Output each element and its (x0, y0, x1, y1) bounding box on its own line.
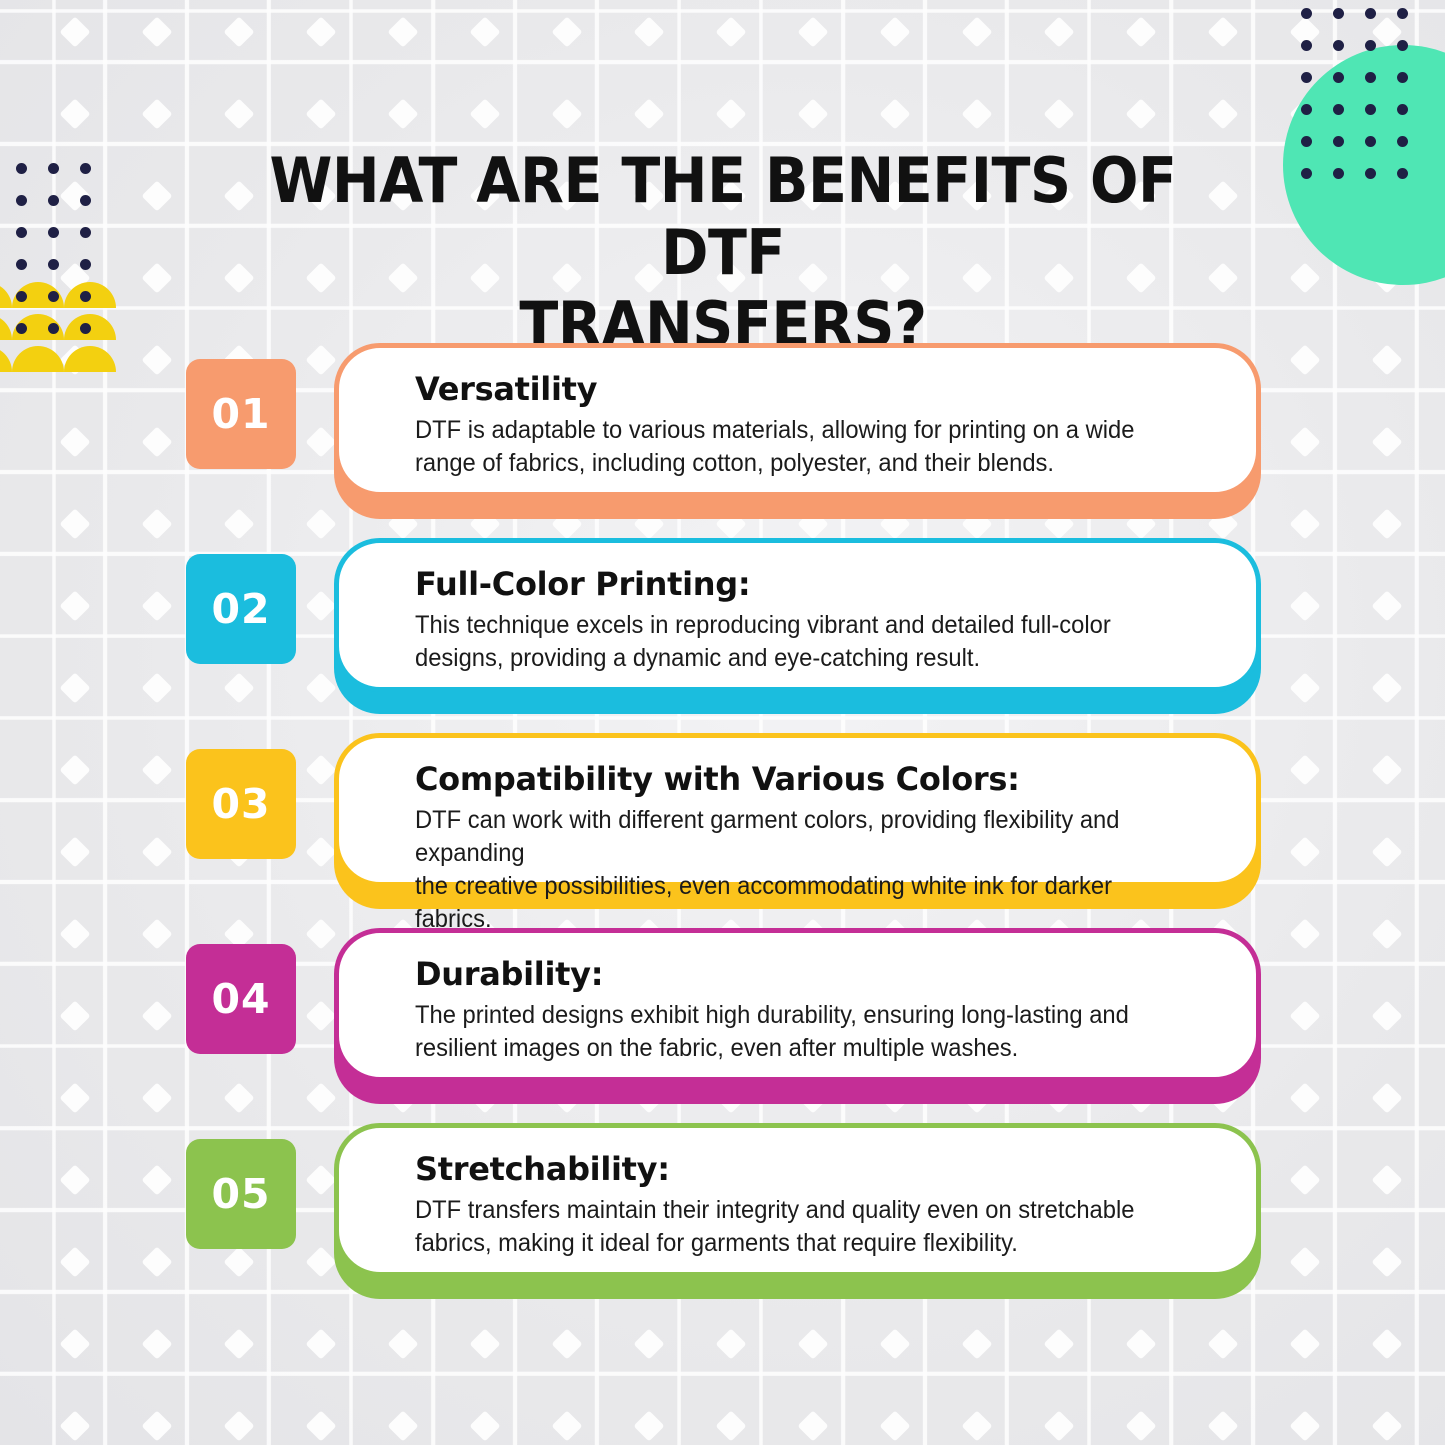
grid-diamond (797, 16, 828, 47)
grid-diamond (141, 1164, 172, 1195)
semicircle-shape (0, 314, 12, 340)
grid-diamond (387, 98, 418, 129)
decor-dot (1301, 72, 1312, 83)
infographic-canvas: WHAT ARE THE BENEFITS OF DTF TRANSFERS? … (0, 0, 1445, 1445)
benefit-row-03: 03Compatibility with Various Colors:DTF … (186, 733, 1261, 909)
grid-diamond (1289, 1410, 1320, 1441)
grid-diamond (469, 98, 500, 129)
grid-diamond (879, 1410, 910, 1441)
card-body-panel: Full-Color Printing:This technique excel… (334, 538, 1261, 692)
grid-diamond (551, 1328, 582, 1359)
grid-diamond (305, 98, 336, 129)
decor-dot (16, 195, 27, 206)
card-body-panel: VersatilityDTF is adaptable to various m… (334, 343, 1261, 497)
grid-diamond (141, 590, 172, 621)
grid-diamond (469, 16, 500, 47)
grid-diamond (223, 1328, 254, 1359)
grid-diamond (1289, 918, 1320, 949)
decor-dot (1301, 8, 1312, 19)
decor-dot (48, 259, 59, 270)
grid-diamond (305, 1328, 336, 1359)
grid-diamond (141, 344, 172, 375)
semicircle-row (0, 346, 116, 372)
grid-diamond (1289, 344, 1320, 375)
dot-row (16, 227, 112, 238)
grid-diamond (961, 98, 992, 129)
benefit-row-05: 05Stretchability:DTF transfers maintain … (186, 1123, 1261, 1299)
page-title-line-1: WHAT ARE THE BENEFITS OF DTF (269, 144, 1176, 289)
grid-diamond (1289, 1082, 1320, 1113)
grid-diamond (141, 508, 172, 539)
grid-diamond (879, 1328, 910, 1359)
grid-diamond (551, 98, 582, 129)
benefit-card[interactable]: Stretchability:DTF transfers maintain th… (334, 1123, 1261, 1299)
grid-diamond (59, 1246, 90, 1277)
decor-dot (80, 195, 91, 206)
benefit-card[interactable]: Full-Color Printing:This technique excel… (334, 538, 1261, 714)
grid-diamond (59, 508, 90, 539)
decor-dot (1397, 72, 1408, 83)
benefit-description: DTF is adaptable to various materials, a… (415, 414, 1182, 480)
grid-diamond (305, 16, 336, 47)
decor-dot (80, 163, 91, 174)
grid-diamond (1289, 426, 1320, 457)
grid-diamond (387, 16, 418, 47)
grid-diamond (387, 1328, 418, 1359)
benefit-title: Stretchability: (415, 1150, 1222, 1188)
grid-diamond (1289, 754, 1320, 785)
grid-diamond (1289, 590, 1320, 621)
grid-diamond (1289, 1000, 1320, 1031)
decor-dot (1397, 136, 1408, 147)
grid-diamond (141, 836, 172, 867)
grid-diamond (1125, 1328, 1156, 1359)
decor-dot (16, 291, 27, 302)
decor-dot (1365, 104, 1376, 115)
semicircle-shape (64, 346, 116, 372)
benefit-title: Compatibility with Various Colors: (415, 760, 1222, 798)
decor-dot (1365, 40, 1376, 51)
decor-dot (1333, 8, 1344, 19)
page-title: WHAT ARE THE BENEFITS OF DTF TRANSFERS? (240, 145, 1206, 361)
grid-diamond (1207, 16, 1238, 47)
benefit-row-01: 01VersatilityDTF is adaptable to various… (186, 343, 1261, 519)
dot-row (1301, 72, 1429, 83)
grid-diamond (387, 1410, 418, 1441)
grid-diamond (1207, 1410, 1238, 1441)
grid-diamond (141, 1328, 172, 1359)
benefit-number-badge: 02 (186, 554, 296, 664)
dot-row (1301, 104, 1429, 115)
grid-diamond (141, 1082, 172, 1113)
grid-diamond (1371, 344, 1402, 375)
grid-diamond (633, 16, 664, 47)
grid-diamond (1207, 1328, 1238, 1359)
grid-diamond (1289, 672, 1320, 703)
grid-diamond (469, 1410, 500, 1441)
grid-diamond (141, 262, 172, 293)
grid-diamond (1289, 1328, 1320, 1359)
grid-diamond (1371, 754, 1402, 785)
benefit-card[interactable]: Compatibility with Various Colors:DTF ca… (334, 733, 1261, 909)
benefit-description: The printed designs exhibit high durabil… (415, 999, 1182, 1065)
grid-diamond (1289, 508, 1320, 539)
decor-dot (1365, 8, 1376, 19)
decor-dot (1333, 72, 1344, 83)
decor-dot (16, 163, 27, 174)
grid-diamond (141, 918, 172, 949)
decor-dot (1333, 136, 1344, 147)
grid-diamond (141, 754, 172, 785)
grid-diamond (715, 1328, 746, 1359)
grid-diamond (1371, 1328, 1402, 1359)
grid-diamond (59, 590, 90, 621)
grid-diamond (633, 98, 664, 129)
grid-diamond (1371, 672, 1402, 703)
grid-diamond (59, 426, 90, 457)
grid-diamond (223, 98, 254, 129)
decor-dot (1365, 72, 1376, 83)
dot-grid-left-decoration (16, 163, 112, 334)
benefit-title: Full-Color Printing: (415, 565, 1222, 603)
decor-dot (1365, 136, 1376, 147)
grid-diamond (1207, 180, 1238, 211)
decor-dot (48, 227, 59, 238)
dot-row (16, 259, 112, 270)
grid-diamond (141, 1410, 172, 1441)
dot-row (16, 163, 112, 174)
grid-diamond (633, 1328, 664, 1359)
grid-diamond (1207, 98, 1238, 129)
grid-diamond (715, 98, 746, 129)
benefit-number-badge: 05 (186, 1139, 296, 1249)
grid-diamond (1289, 836, 1320, 867)
decor-dot (16, 323, 27, 334)
grid-diamond (1371, 1246, 1402, 1277)
grid-diamond (59, 672, 90, 703)
semicircle-shape (0, 282, 12, 308)
grid-diamond (59, 98, 90, 129)
benefit-row-02: 02Full-Color Printing:This technique exc… (186, 538, 1261, 714)
grid-diamond (551, 16, 582, 47)
benefit-card[interactable]: Durability:The printed designs exhibit h… (334, 928, 1261, 1104)
benefit-row-04: 04Durability:The printed designs exhibit… (186, 928, 1261, 1104)
grid-diamond (1043, 98, 1074, 129)
benefit-description: This technique excels in reproducing vib… (415, 609, 1182, 675)
decor-dot (1397, 8, 1408, 19)
grid-diamond (961, 1328, 992, 1359)
grid-diamond (59, 1164, 90, 1195)
grid-diamond (879, 98, 910, 129)
benefit-description: DTF can work with different garment colo… (415, 804, 1182, 936)
decor-dot (1365, 168, 1376, 179)
decor-dot (1301, 40, 1312, 51)
grid-diamond (223, 1410, 254, 1441)
grid-diamond (1371, 1000, 1402, 1031)
grid-diamond (59, 1328, 90, 1359)
decor-dot (1333, 40, 1344, 51)
dot-row (1301, 40, 1429, 51)
grid-diamond (1371, 1410, 1402, 1441)
grid-diamond (961, 1410, 992, 1441)
decor-dot (1301, 136, 1312, 147)
grid-diamond (141, 1000, 172, 1031)
grid-diamond (1125, 98, 1156, 129)
grid-diamond (141, 180, 172, 211)
grid-diamond (59, 1410, 90, 1441)
dot-grid-right-decoration (1301, 8, 1429, 179)
card-body-panel: Compatibility with Various Colors:DTF ca… (334, 733, 1261, 887)
decor-dot (80, 323, 91, 334)
grid-diamond (59, 1000, 90, 1031)
grid-diamond (1125, 1410, 1156, 1441)
grid-diamond (141, 98, 172, 129)
grid-diamond (223, 16, 254, 47)
grid-diamond (141, 16, 172, 47)
grid-diamond (1371, 508, 1402, 539)
decor-dot (1397, 168, 1408, 179)
grid-diamond (1371, 836, 1402, 867)
grid-diamond (1371, 1082, 1402, 1113)
decor-dot (80, 291, 91, 302)
grid-diamond (961, 16, 992, 47)
grid-diamond (633, 1410, 664, 1441)
benefit-card[interactable]: VersatilityDTF is adaptable to various m… (334, 343, 1261, 519)
grid-diamond (1371, 1164, 1402, 1195)
grid-diamond (141, 1246, 172, 1277)
grid-diamond (1289, 1164, 1320, 1195)
grid-diamond (59, 836, 90, 867)
grid-diamond (1289, 1246, 1320, 1277)
grid-diamond (141, 426, 172, 457)
benefit-title: Durability: (415, 955, 1222, 993)
decor-dot (1301, 168, 1312, 179)
decor-dot (80, 227, 91, 238)
decor-dot (1333, 168, 1344, 179)
benefit-description: DTF transfers maintain their integrity a… (415, 1194, 1182, 1260)
decor-dot (80, 259, 91, 270)
grid-diamond (1043, 1328, 1074, 1359)
grid-diamond (1371, 918, 1402, 949)
dot-row (16, 323, 112, 334)
decor-dot (1397, 40, 1408, 51)
grid-diamond (1371, 426, 1402, 457)
card-body-panel: Durability:The printed designs exhibit h… (334, 928, 1261, 1082)
semicircle-shape (12, 346, 64, 372)
grid-diamond (1289, 262, 1320, 293)
benefit-number-badge: 03 (186, 749, 296, 859)
decor-dot (16, 227, 27, 238)
grid-diamond (1207, 262, 1238, 293)
grid-diamond (551, 1410, 582, 1441)
card-body-panel: Stretchability:DTF transfers maintain th… (334, 1123, 1261, 1277)
semicircle-shape (0, 346, 12, 372)
grid-diamond (59, 918, 90, 949)
grid-diamond (1125, 16, 1156, 47)
grid-diamond (59, 1082, 90, 1113)
grid-diamond (797, 98, 828, 129)
grid-diamond (1371, 590, 1402, 621)
decor-dot (48, 291, 59, 302)
grid-diamond (715, 16, 746, 47)
grid-diamond (797, 1410, 828, 1441)
dot-row (1301, 136, 1429, 147)
grid-diamond (141, 672, 172, 703)
grid-diamond (797, 1328, 828, 1359)
grid-diamond (469, 1328, 500, 1359)
benefit-title: Versatility (415, 370, 1222, 408)
decor-dot (1333, 104, 1344, 115)
decor-dot (48, 163, 59, 174)
grid-diamond (59, 754, 90, 785)
grid-diamond (1043, 16, 1074, 47)
grid-diamond (305, 1410, 336, 1441)
dot-row (16, 195, 112, 206)
grid-diamond (59, 16, 90, 47)
grid-diamond (715, 1410, 746, 1441)
decor-dot (1397, 104, 1408, 115)
decor-dot (48, 323, 59, 334)
decor-dot (16, 259, 27, 270)
dot-row (1301, 8, 1429, 19)
benefit-number-badge: 01 (186, 359, 296, 469)
decor-dot (48, 195, 59, 206)
benefit-number-badge: 04 (186, 944, 296, 1054)
grid-diamond (1043, 1410, 1074, 1441)
grid-diamond (879, 16, 910, 47)
dot-row (16, 291, 112, 302)
decor-dot (1301, 104, 1312, 115)
dot-row (1301, 168, 1429, 179)
